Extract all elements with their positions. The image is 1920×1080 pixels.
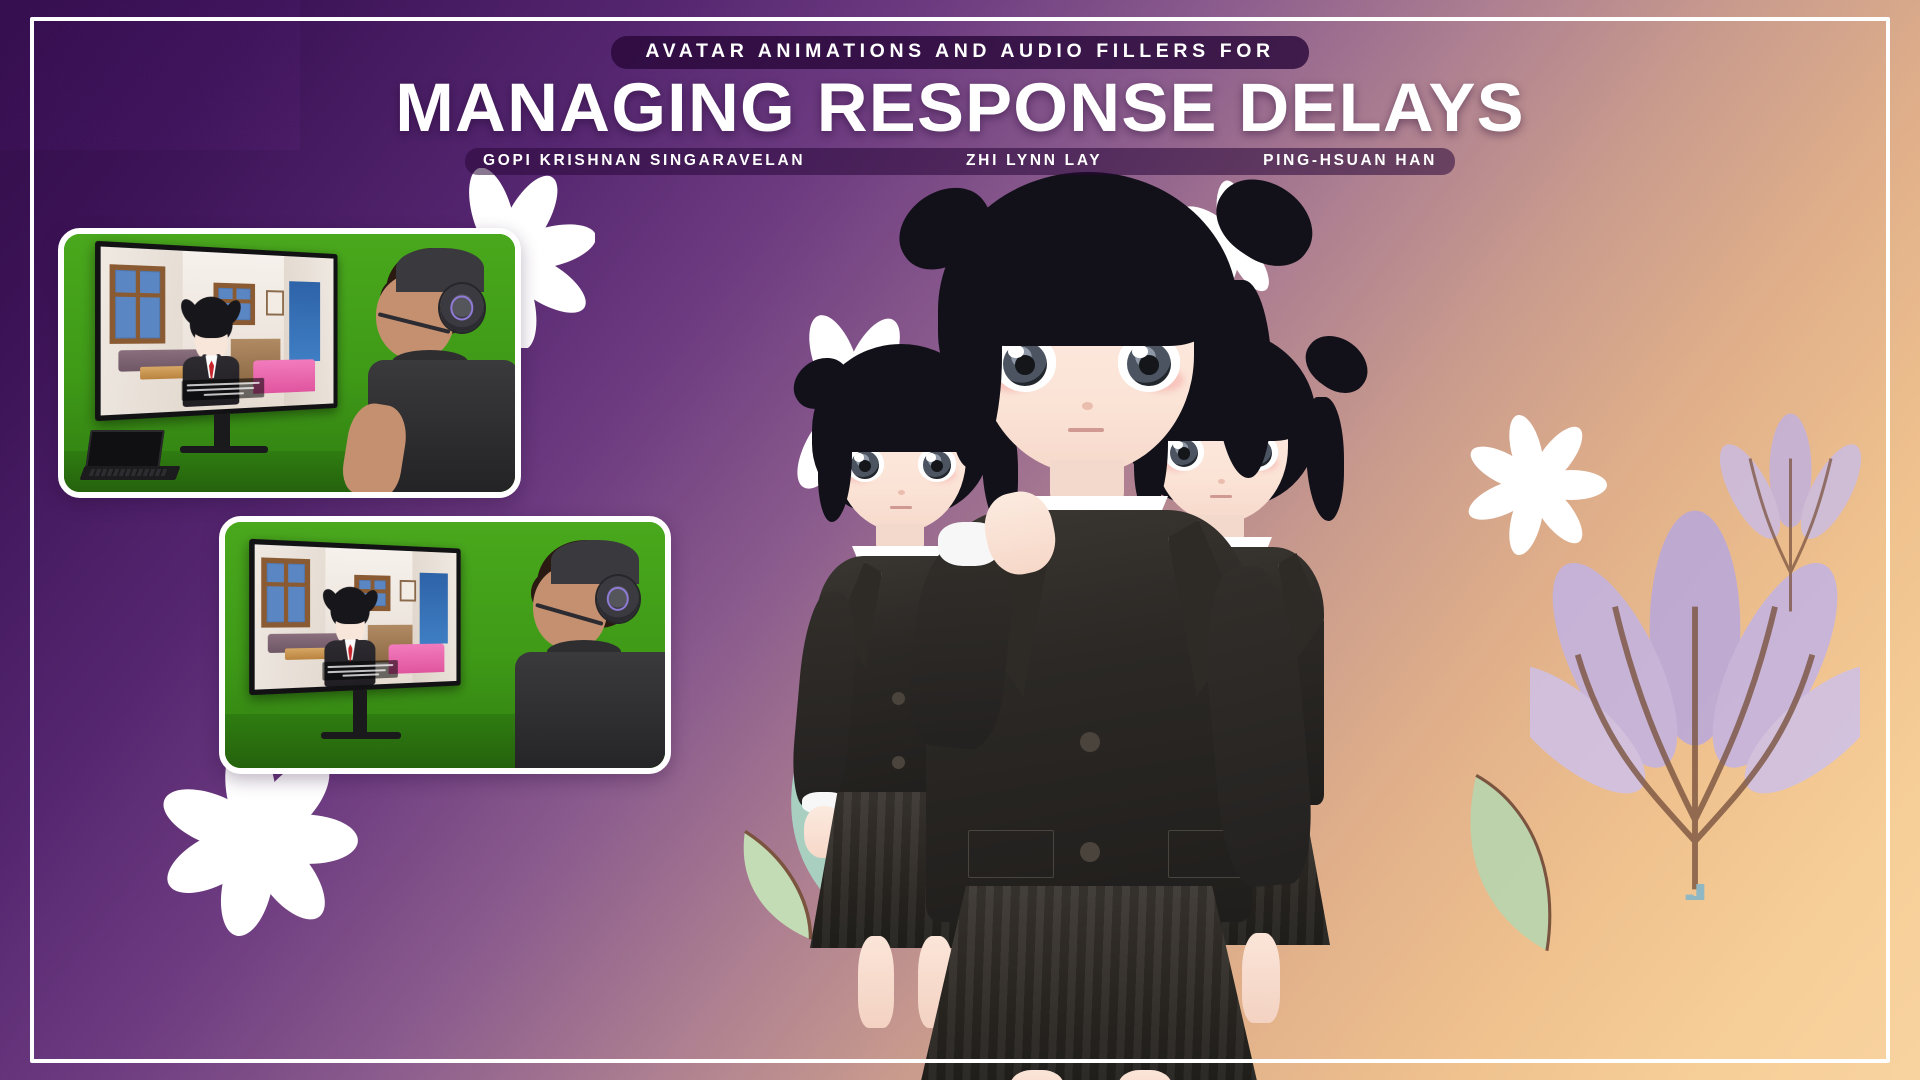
eye-gleam	[854, 453, 864, 461]
caption-line-2	[187, 387, 254, 392]
avatar-center-button-1	[1080, 732, 1100, 752]
vr-classroom-scene-2	[255, 544, 457, 689]
scene-avatar-fringe	[193, 317, 229, 338]
avatar-center-nose	[1082, 402, 1093, 410]
tv-monitor-2	[249, 539, 461, 696]
tv-stand-base-2	[321, 732, 401, 739]
eye-pupil	[1015, 355, 1035, 375]
laptop-lid	[85, 430, 164, 468]
flower-purple-right-icon	[1530, 500, 1860, 900]
poster-kicker: AVATAR ANIMATIONS AND AUDIO FILLERS FOR	[611, 36, 1308, 69]
caption2-line-1	[327, 664, 393, 668]
author-3: PING-HSUAN HAN	[1263, 152, 1437, 170]
researcher-with-headset	[340, 246, 521, 492]
photo-card-greenscreen-seated[interactable]	[219, 516, 671, 774]
tv-screen	[101, 247, 334, 416]
caption-line-1	[187, 382, 260, 387]
photo2-content	[225, 522, 665, 768]
flower-white-mid-right-icon	[1460, 410, 1610, 560]
photo1-content	[64, 234, 515, 492]
avatar-center-large	[890, 170, 1320, 1080]
researcher-with-headset-2	[493, 536, 671, 774]
page-title: MANAGING RESPONSE DELAYS	[0, 73, 1920, 142]
scene2-caption-overlay	[322, 660, 397, 681]
headset2-earcup	[597, 576, 639, 622]
tv-stand-neck	[214, 414, 230, 448]
leaf-cluster-right-icon	[1440, 760, 1620, 960]
avatar-left-leg-left	[858, 936, 894, 1028]
scene-wall-picture	[266, 290, 284, 315]
eye-gleam	[1132, 345, 1148, 358]
vr-classroom-scene	[101, 247, 334, 416]
caption2-line-3	[342, 673, 379, 676]
avatar-group	[700, 150, 1460, 1080]
scene-doorway	[289, 281, 320, 361]
avatar-center-skirt	[918, 886, 1260, 1080]
poster-canvas: AVATAR ANIMATIONS AND AUDIO FILLERS FOR …	[0, 0, 1920, 1080]
author-1: GOPI KRISHNAN SINGARAVELAN	[483, 152, 805, 170]
avatar-center-sidelock-right	[1214, 280, 1272, 478]
laptop-keyboard	[89, 469, 170, 476]
tv-stand-base	[180, 446, 268, 453]
author-2: ZHI LYNN LAY	[966, 152, 1102, 170]
scene2-avatar-fringe	[334, 605, 367, 624]
scene2-wall-picture	[400, 580, 416, 602]
poster-header: AVATAR ANIMATIONS AND AUDIO FILLERS FOR …	[0, 0, 1920, 175]
scene-caption-overlay	[182, 378, 265, 401]
person2-shirt	[515, 652, 671, 774]
scene-window-left	[110, 264, 166, 344]
avatar-center-sidelock-left	[948, 280, 1002, 468]
tv-monitor	[95, 241, 338, 421]
avatar-center-button-2	[1080, 842, 1100, 862]
scene2-window-left	[261, 557, 310, 627]
eye-gleam	[1008, 345, 1024, 358]
tv-screen-2	[255, 544, 457, 689]
headset-earcup	[440, 284, 484, 332]
flower-purple-far-right-icon	[1708, 402, 1873, 617]
laptop	[82, 430, 178, 488]
avatar-center-pocket-left	[968, 830, 1054, 878]
author-list: GOPI KRISHNAN SINGARAVELAN ZHI LYNN LAY …	[465, 148, 1455, 175]
scene2-doorway	[420, 573, 448, 644]
avatar-center-mouth	[1068, 428, 1104, 432]
tv-stand-neck-2	[353, 690, 367, 734]
caption-line-3	[204, 392, 244, 396]
photo-card-greenscreen-standing[interactable]	[58, 228, 521, 498]
eye-pupil	[1139, 355, 1159, 375]
